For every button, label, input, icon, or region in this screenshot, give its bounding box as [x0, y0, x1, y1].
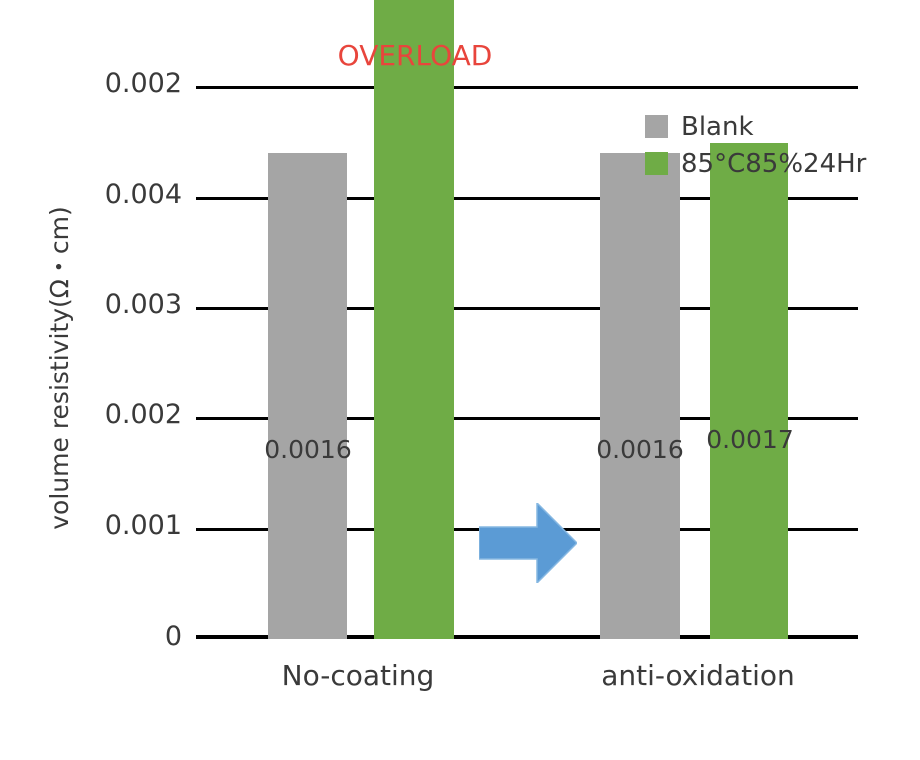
x-category-label-anti-oxidation: anti-oxidation: [578, 662, 818, 690]
bar-value-label: 0.0017: [690, 427, 810, 452]
legend-label: Blank: [681, 114, 754, 140]
legend: Blank 85°C85%24Hr: [645, 110, 885, 184]
y-tick-label: 0.002: [42, 70, 182, 97]
y-tick-label: 0.002: [42, 401, 182, 428]
transition-arrow-icon: [479, 503, 577, 583]
legend-swatch-icon: [645, 152, 668, 175]
legend-item-85c85pct24hr[interactable]: 85°C85%24Hr: [645, 147, 885, 180]
bar-85c-no-coating[interactable]: [374, 0, 454, 639]
bar-blank-no-coating[interactable]: [268, 153, 347, 639]
bar-value-label: 0.0016: [248, 437, 368, 462]
x-category-label-no-coating: No-coating: [243, 662, 473, 690]
overload-annotation: OVERLOAD: [300, 42, 530, 70]
gridline: [196, 86, 858, 89]
y-tick-label: 0.004: [42, 181, 182, 208]
y-tick-label: 0.001: [42, 512, 182, 539]
bar-chart: volume resistivity(Ω・cm) 0.002 0.004 0.0…: [0, 0, 920, 760]
bar-blank-anti-oxidation[interactable]: [600, 153, 680, 639]
y-axis-tick-labels: 0.002 0.004 0.003 0.002 0.001 0: [30, 0, 182, 760]
bar-value-label: 0.0016: [580, 437, 700, 462]
legend-label: 85°C85%24Hr: [681, 151, 866, 177]
legend-swatch-icon: [645, 115, 668, 138]
bar-85c-anti-oxidation[interactable]: [710, 143, 788, 639]
y-tick-label: 0: [42, 623, 182, 650]
legend-item-blank[interactable]: Blank: [645, 110, 885, 143]
y-tick-label: 0.003: [42, 291, 182, 318]
